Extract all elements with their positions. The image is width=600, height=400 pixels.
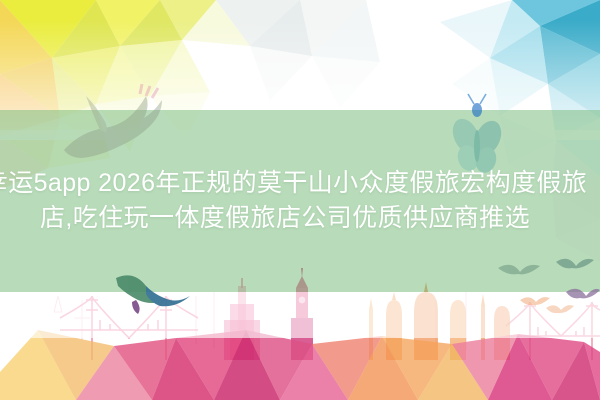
butterfly-icon bbox=[448, 94, 507, 175]
bird-small-icon bbox=[498, 259, 600, 299]
dove-icon bbox=[64, 84, 162, 158]
bird-small-icon bbox=[520, 297, 574, 313]
seagull-icon bbox=[116, 275, 190, 314]
wildlife-decorations bbox=[0, 0, 600, 400]
promo-banner: 幸运5app 2026年正规的莫干山小众度假旅宏构度假旅店,吃住玩一体度假旅店公… bbox=[0, 0, 600, 400]
